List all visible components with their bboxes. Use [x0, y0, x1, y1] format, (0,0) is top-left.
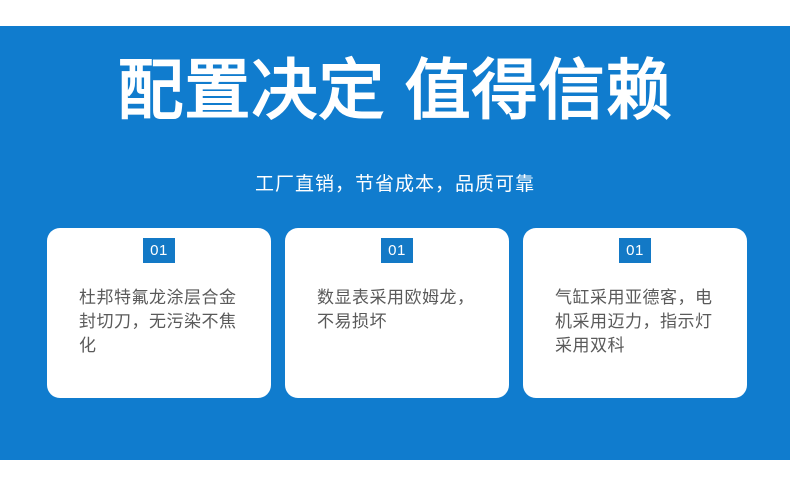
- card-badge-2: 01: [381, 238, 413, 263]
- card-badge-1: 01: [143, 238, 175, 263]
- page-title: 配置决定 值得信赖: [0, 52, 790, 128]
- card-badge-3: 01: [619, 238, 651, 263]
- promotional-banner: 配置决定 值得信赖 工厂直销，节省成本，品质可靠 01 杜邦特氟龙涂层合金封切刀…: [0, 0, 790, 484]
- card-text-3: 气缸采用亚德客，电机采用迈力，指示灯采用双科: [555, 286, 727, 358]
- banner-subtitle: 工厂直销，节省成本，品质可靠: [0, 172, 790, 198]
- feature-card-3: 01 气缸采用亚德客，电机采用迈力，指示灯采用双科: [523, 228, 747, 398]
- feature-card-list: 01 杜邦特氟龙涂层合金封切刀，无污染不焦化 01 数显表采用欧姆龙，不易损坏 …: [47, 228, 747, 398]
- card-text-2: 数显表采用欧姆龙，不易损坏: [317, 286, 489, 334]
- card-text-1: 杜邦特氟龙涂层合金封切刀，无污染不焦化: [79, 286, 251, 358]
- feature-card-1: 01 杜邦特氟龙涂层合金封切刀，无污染不焦化: [47, 228, 271, 398]
- feature-card-2: 01 数显表采用欧姆龙，不易损坏: [285, 228, 509, 398]
